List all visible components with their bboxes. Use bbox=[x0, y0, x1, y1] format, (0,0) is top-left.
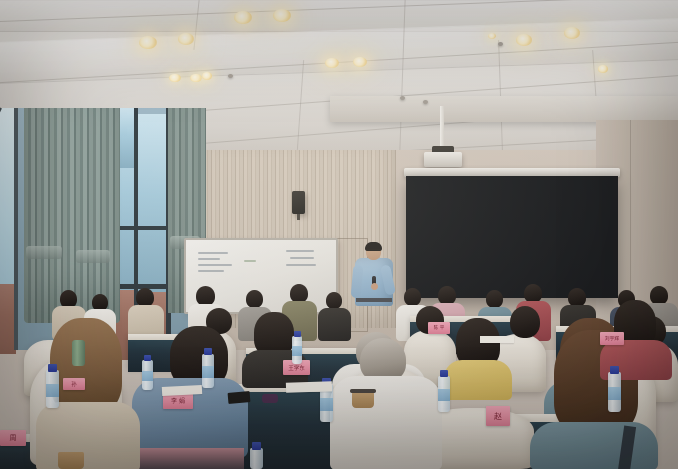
eyeglasses-case[interactable] bbox=[262, 394, 278, 403]
coffee-cup[interactable] bbox=[352, 392, 374, 408]
placard-group: 李 娟王学东陈 平赵刘宇辉周孙 bbox=[0, 0, 678, 469]
bottle-cap bbox=[144, 355, 151, 361]
cup-lid bbox=[350, 389, 376, 393]
handout-paper[interactable] bbox=[286, 381, 332, 393]
thermos[interactable] bbox=[72, 340, 85, 366]
conference-room-photo: 本县遗传病防控政策效果 1、对已婚育龄夫妇进行免费优生健康检查服务一次，预防出生… bbox=[0, 0, 678, 469]
water-bottle[interactable] bbox=[292, 336, 302, 364]
coffee-cup[interactable] bbox=[58, 452, 84, 469]
name-placard: 周 bbox=[0, 430, 26, 446]
bottle-cap bbox=[610, 366, 619, 374]
water-bottle[interactable] bbox=[142, 360, 153, 390]
water-bottle[interactable] bbox=[250, 448, 263, 469]
handout-paper[interactable] bbox=[480, 336, 514, 343]
name-placard: 陈 平 bbox=[428, 322, 450, 334]
water-bottle[interactable] bbox=[608, 372, 621, 412]
name-placard: 刘宇辉 bbox=[600, 332, 624, 345]
bottle-cap bbox=[252, 442, 261, 450]
water-bottle[interactable] bbox=[438, 376, 450, 412]
bottle-cap bbox=[48, 364, 57, 372]
name-placard: 赵 bbox=[486, 406, 510, 426]
bottle-cap bbox=[294, 331, 301, 337]
name-placard: 孙 bbox=[63, 378, 85, 390]
water-bottle[interactable] bbox=[202, 354, 214, 388]
bottle-cap bbox=[440, 370, 448, 377]
bottle-cap bbox=[204, 348, 212, 355]
mobile-phone[interactable] bbox=[228, 391, 251, 404]
water-bottle[interactable] bbox=[46, 370, 59, 408]
